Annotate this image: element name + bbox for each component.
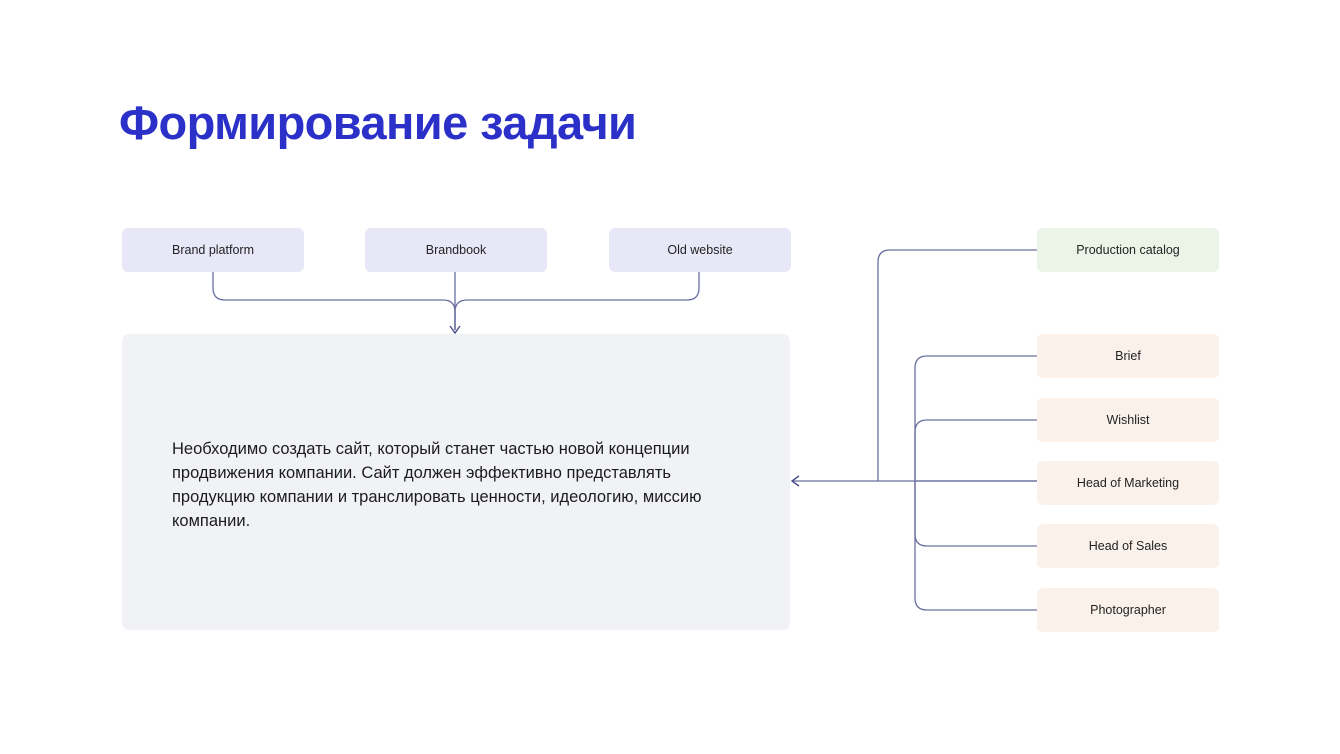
node-brief[interactable]: Brief: [1037, 334, 1219, 378]
page-title: Формирование задачи: [119, 97, 636, 149]
connector-brand-platform: [213, 272, 455, 330]
node-old-website[interactable]: Old website: [609, 228, 791, 272]
node-photographer[interactable]: Photographer: [1037, 588, 1219, 632]
arrow-down-icon: [450, 326, 460, 333]
connector-head-of-sales: [915, 481, 1037, 546]
task-panel: Необходимо создать сайт, который станет …: [122, 334, 790, 630]
connector-production-catalog: [878, 250, 1037, 481]
slide-canvas: Формирование задачи Brand platform Brand…: [0, 0, 1340, 754]
node-brand-platform[interactable]: Brand platform: [122, 228, 304, 272]
task-description-text: Необходимо создать сайт, который станет …: [172, 438, 744, 534]
connector-old-website: [455, 272, 699, 330]
node-production-catalog[interactable]: Production catalog: [1037, 228, 1219, 272]
connector-photographer: [915, 481, 1037, 610]
arrow-left-icon: [792, 476, 799, 486]
node-brandbook[interactable]: Brandbook: [365, 228, 547, 272]
node-wishlist[interactable]: Wishlist: [1037, 398, 1219, 442]
node-head-of-sales[interactable]: Head of Sales: [1037, 524, 1219, 568]
connector-wishlist: [915, 420, 1037, 481]
connector-brief: [915, 356, 1037, 481]
node-head-of-marketing[interactable]: Head of Marketing: [1037, 461, 1219, 505]
